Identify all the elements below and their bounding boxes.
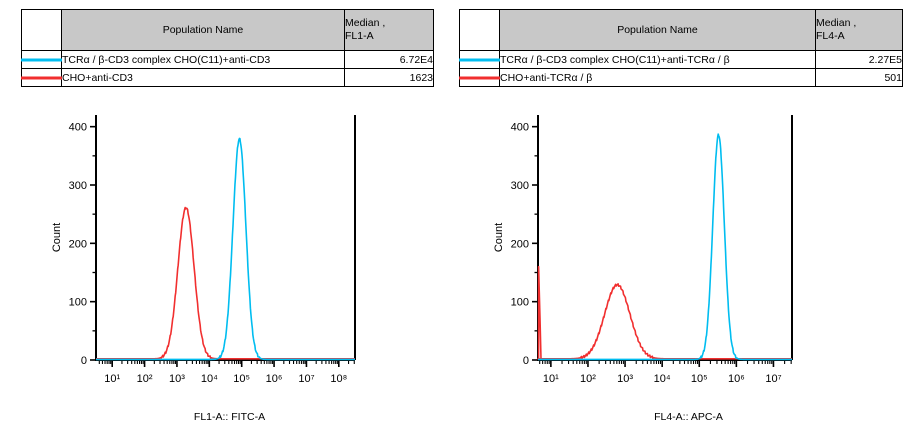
x-axis-title-fl4: FL4-A:: APC-A [459, 411, 918, 423]
median-header-line1: Median , [345, 17, 433, 30]
median-value-cell: 1623 [345, 69, 434, 87]
series-swatch-cell [460, 51, 500, 69]
svg-text:10⁶: 10⁶ [266, 373, 283, 385]
series-swatch-cell [22, 51, 62, 69]
table-row[interactable]: TCRα / β-CD3 complex CHO(C11)+anti-TCRα … [460, 51, 903, 69]
histogram-svg-fl1: 010020030040010¹10²10³10⁴10⁵10⁶10⁷10⁸Cou… [0, 105, 459, 405]
panel-fl4: Population Name Median , FL4-A TCRα / β-… [459, 0, 918, 440]
population-name-cell: CHO+anti-TCRα / β [500, 69, 816, 87]
svg-text:400: 400 [511, 122, 529, 134]
svg-text:10⁶: 10⁶ [728, 373, 745, 385]
svg-text:10⁴: 10⁴ [654, 373, 671, 385]
svg-text:10⁸: 10⁸ [330, 373, 347, 385]
svg-text:400: 400 [69, 122, 87, 134]
series-swatch-cell [22, 69, 62, 87]
swatch-header-cell [22, 10, 62, 51]
series-color-swatch-red [459, 76, 500, 79]
svg-text:200: 200 [511, 238, 529, 250]
histogram-chart-fl1: 010020030040010¹10²10³10⁴10⁵10⁶10⁷10⁸Cou… [0, 105, 459, 405]
series-color-swatch-cyan [21, 58, 62, 61]
population-name-cell: TCRα / β-CD3 complex CHO(C11)+anti-CD3 [62, 51, 345, 69]
flow-cytometry-figure: Population Name Median , FL1-A TCRα / β-… [0, 0, 918, 440]
svg-text:200: 200 [69, 238, 87, 250]
svg-text:100: 100 [69, 297, 87, 309]
y-axis-label: Count [493, 223, 505, 252]
series-color-swatch-red [21, 76, 62, 79]
svg-text:10⁷: 10⁷ [765, 373, 781, 385]
population-name-header: Population Name [500, 10, 816, 51]
svg-text:10²: 10² [580, 373, 596, 385]
histogram-chart-fl4: 010020030040010¹10²10³10⁴10⁵10⁶10⁷Count [459, 105, 918, 405]
svg-text:10⁴: 10⁴ [201, 373, 218, 385]
median-header-line2: FL1-A [345, 30, 433, 43]
svg-text:10³: 10³ [169, 373, 185, 385]
population-name-header: Population Name [62, 10, 345, 51]
y-axis-label: Count [51, 223, 63, 252]
population-legend-table-fl4: Population Name Median , FL4-A TCRα / β-… [459, 9, 903, 87]
median-header: Median , FL1-A [345, 10, 434, 51]
median-header-line1: Median , [816, 17, 902, 30]
table-header-row: Population Name Median , FL4-A [460, 10, 903, 51]
table-row[interactable]: CHO+anti-CD3 1623 [22, 69, 434, 87]
swatch-header-cell [460, 10, 500, 51]
median-header-line2: FL4-A [816, 30, 902, 43]
series-swatch-cell [460, 69, 500, 87]
svg-text:10¹: 10¹ [543, 373, 559, 385]
svg-text:300: 300 [69, 180, 87, 192]
svg-text:10²: 10² [137, 373, 153, 385]
svg-text:100: 100 [511, 297, 529, 309]
median-value-cell: 2.27E5 [816, 51, 903, 69]
median-value-cell: 501 [816, 69, 903, 87]
svg-text:10³: 10³ [617, 373, 633, 385]
x-axis-title-fl1: FL1-A:: FITC-A [0, 411, 459, 423]
table-header-row: Population Name Median , FL1-A [22, 10, 434, 51]
histogram-svg-fl4: 010020030040010¹10²10³10⁴10⁵10⁶10⁷Count [459, 105, 918, 405]
svg-text:0: 0 [81, 355, 87, 367]
svg-text:10¹: 10¹ [104, 373, 120, 385]
series-color-swatch-cyan [459, 58, 500, 61]
table-row[interactable]: CHO+anti-TCRα / β 501 [460, 69, 903, 87]
median-value-cell: 6.72E4 [345, 51, 434, 69]
median-header: Median , FL4-A [816, 10, 903, 51]
panel-fl1: Population Name Median , FL1-A TCRα / β-… [0, 0, 459, 440]
population-legend-table-fl1: Population Name Median , FL1-A TCRα / β-… [21, 9, 434, 87]
table-row[interactable]: TCRα / β-CD3 complex CHO(C11)+anti-CD3 6… [22, 51, 434, 69]
svg-text:10⁵: 10⁵ [233, 373, 250, 385]
population-name-cell: TCRα / β-CD3 complex CHO(C11)+anti-TCRα … [500, 51, 816, 69]
population-name-cell: CHO+anti-CD3 [62, 69, 345, 87]
svg-text:300: 300 [511, 180, 529, 192]
svg-text:0: 0 [523, 355, 529, 367]
svg-text:10⁵: 10⁵ [691, 373, 708, 385]
svg-text:10⁷: 10⁷ [298, 373, 314, 385]
